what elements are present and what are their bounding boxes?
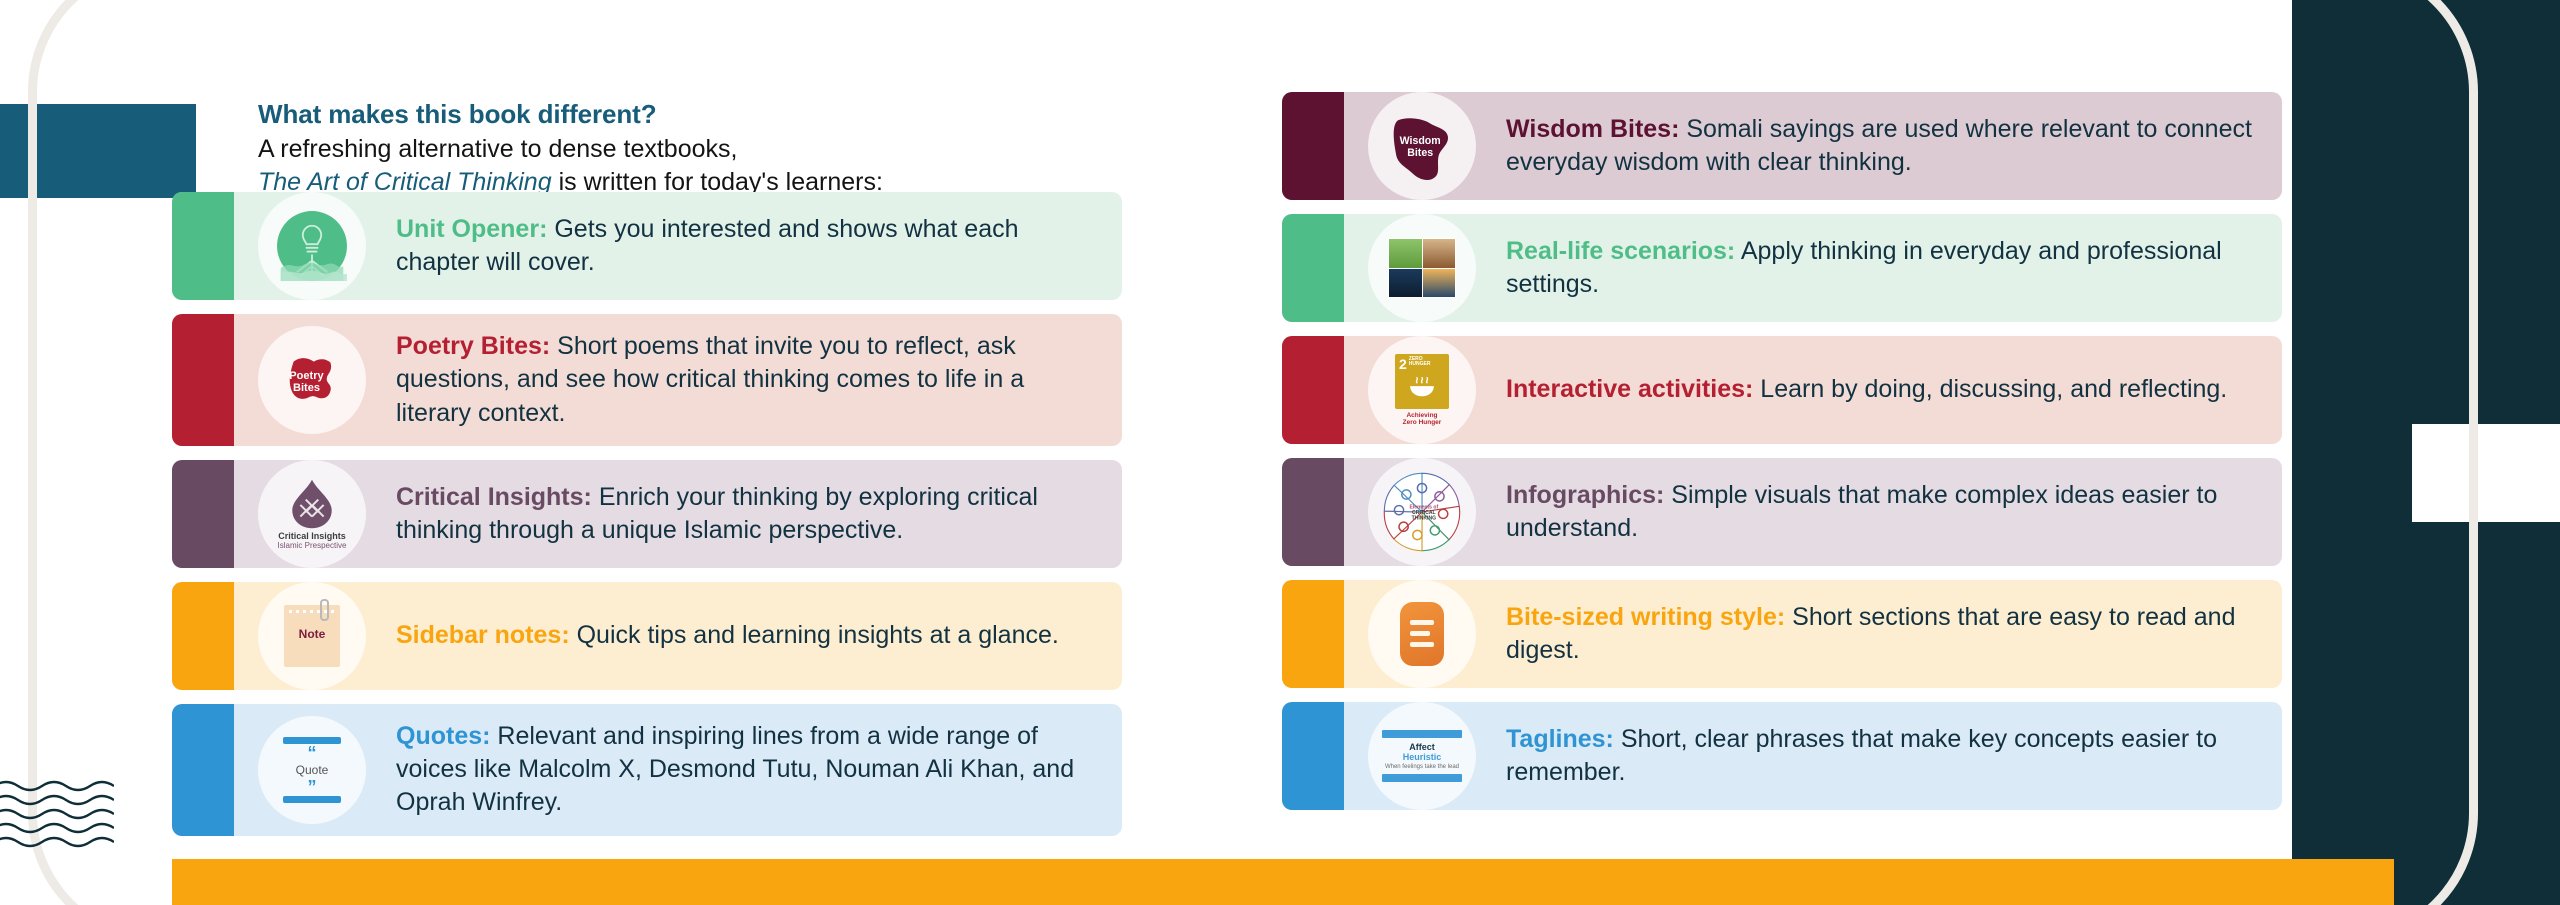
icon-text-line1: Poetry [289, 370, 324, 382]
card-accent-bar [1282, 580, 1344, 688]
card-title: Real-life scenarios: [1506, 237, 1735, 265]
tagline-caption-3: When feelings take the lead [1382, 764, 1462, 770]
feature-card-taglines[interactable]: Affect Heuristic When feelings take the … [1282, 702, 2282, 810]
card-title: Unit Opener: [396, 215, 547, 243]
card-text: Real-life scenarios: Apply thinking in e… [1506, 219, 2256, 318]
steaming-bowl-icon [1405, 376, 1439, 398]
card-title: Infographics: [1506, 481, 1664, 509]
icon-text-line1: Wisdom [1400, 135, 1441, 147]
card-accent-bar [172, 582, 234, 690]
text-line-2 [1410, 631, 1430, 636]
bite-sized-text-icon [1368, 580, 1476, 688]
card-accent-bar [172, 192, 234, 300]
quote-icon: “ Quote ” [258, 716, 366, 824]
tagline-bottom-bar [1382, 774, 1462, 782]
critical-insights-icon: Critical Insights Islamic Prespective [258, 460, 366, 568]
card-accent-bar [1282, 702, 1344, 810]
sdg-number: 2 [1399, 357, 1407, 371]
close-quote-glyph: ” [277, 778, 347, 796]
icon-text-line2: Bites [1407, 147, 1433, 159]
infographic-wheel-icon: Elements of CRITICAL THINKING [1368, 458, 1476, 566]
card-text: Poetry Bites: Short poems that invite yo… [396, 314, 1096, 446]
card-body: Learn by doing, discussing, and reflecti… [1753, 375, 2227, 403]
card-title: Sidebar notes: [396, 621, 570, 649]
intro-line-1: A refreshing alternative to dense textbo… [258, 133, 1118, 166]
wisdom-bites-somalia-map-icon: Wisdom Bites [1368, 92, 1476, 200]
feature-card-interactive-activities[interactable]: 2 ZERO HUNGER Achieving [1282, 336, 2282, 444]
collage-photo-4 [1423, 269, 1456, 298]
card-accent-bar [1282, 92, 1344, 200]
card-body: Relevant and inspiring lines from a wide… [396, 722, 1074, 817]
sticky-note-icon: Note [258, 582, 366, 690]
left-feature-column: Unit Opener: Gets you interested and sho… [172, 192, 1122, 850]
icon-text-line2: Bites [293, 382, 320, 394]
card-text: Taglines: Short, clear phrases that make… [1506, 707, 2256, 806]
collage-photo-1 [1389, 239, 1422, 268]
feature-card-bite-sized-writing-style[interactable]: Bite-sized writing style: Short sections… [1282, 580, 2282, 688]
card-accent-bar [1282, 214, 1344, 322]
feature-card-sidebar-notes[interactable]: Note Sidebar notes: Quick tips and learn… [172, 582, 1122, 690]
icon-caption-2: Islamic Prespective [270, 541, 354, 550]
feature-card-quotes[interactable]: “ Quote ” Quotes: Relevant and inspiring… [172, 704, 1122, 836]
card-text: Infographics: Simple visuals that make c… [1506, 463, 2256, 562]
card-text: Unit Opener: Gets you interested and sho… [396, 197, 1096, 296]
quote-bottom-bar [283, 796, 341, 803]
card-text: Quotes: Relevant and inspiring lines fro… [396, 704, 1096, 836]
sdg-label: ZERO HUNGER [1409, 357, 1445, 368]
card-title: Quotes: [396, 722, 490, 750]
card-body: Quick tips and learning insights at a gl… [570, 621, 1059, 649]
intro-block: What makes this book different? A refres… [258, 98, 1118, 198]
card-text: Sidebar notes: Quick tips and learning i… [396, 603, 1096, 668]
card-title: Interactive activities: [1506, 375, 1753, 403]
icon-text: Quote [277, 763, 347, 777]
feature-card-wisdom-bites[interactable]: Wisdom Bites Wisdom Bites: Somali saying… [1282, 92, 2282, 200]
wheel-center-line3: THINKING [1412, 515, 1436, 521]
tagline-card-icon: Affect Heuristic When feelings take the … [1368, 702, 1476, 810]
card-accent-bar [1282, 458, 1344, 566]
card-text: Interactive activities: Learn by doing, … [1506, 357, 2256, 422]
collage-photo-2 [1423, 239, 1456, 268]
card-title: Critical Insights: [396, 483, 592, 511]
card-accent-bar [172, 460, 234, 568]
card-title: Poetry Bites: [396, 332, 550, 360]
sdg-caption-2: Zero Hunger [1403, 419, 1442, 426]
icon-caption-1: Critical Insights [270, 531, 354, 541]
tagline-top-bar [1382, 730, 1462, 738]
paperclip-icon [320, 599, 329, 621]
right-feature-column: Wisdom Bites Wisdom Bites: Somali saying… [1282, 92, 2282, 824]
card-accent-bar [172, 704, 234, 836]
card-accent-bar [1282, 336, 1344, 444]
card-text: Critical Insights: Enrich your thinking … [396, 465, 1096, 564]
sdg-zero-hunger-icon: 2 ZERO HUNGER Achieving [1368, 336, 1476, 444]
page-title: What makes this book different? [258, 98, 1118, 131]
icon-text: Note [284, 627, 340, 641]
feature-card-poetry-bites[interactable]: Poetry Bites Poetry Bites: Short poems t… [172, 314, 1122, 446]
unit-opener-icon [258, 192, 366, 300]
open-quote-glyph: “ [277, 744, 347, 762]
feature-card-unit-opener[interactable]: Unit Opener: Gets you interested and sho… [172, 192, 1122, 300]
text-line-3 [1410, 642, 1434, 647]
tagline-caption-2: Heuristic [1382, 752, 1462, 762]
photo-collage-icon [1368, 214, 1476, 322]
tagline-caption-1: Affect [1382, 742, 1462, 752]
card-text: Wisdom Bites: Somali sayings are used wh… [1506, 97, 2256, 196]
feature-card-real-life-scenarios[interactable]: Real-life scenarios: Apply thinking in e… [1282, 214, 2282, 322]
slide-canvas: What makes this book different? A refres… [0, 0, 2560, 905]
card-text: Bite-sized writing style: Short sections… [1506, 585, 2256, 684]
sdg-caption-1: Achieving [1406, 412, 1437, 419]
feature-card-critical-insights[interactable]: Critical Insights Islamic Prespective Cr… [172, 460, 1122, 568]
card-accent-bar [172, 314, 234, 446]
feature-card-infographics[interactable]: Elements of CRITICAL THINKING Infographi… [1282, 458, 2282, 566]
card-title: Bite-sized writing style: [1506, 603, 1785, 631]
poetry-bites-apple-icon: Poetry Bites [258, 326, 366, 434]
collage-photo-3 [1389, 269, 1422, 298]
text-line-1 [1410, 620, 1434, 625]
card-title: Wisdom Bites: [1506, 115, 1679, 143]
card-title: Taglines: [1506, 725, 1614, 753]
